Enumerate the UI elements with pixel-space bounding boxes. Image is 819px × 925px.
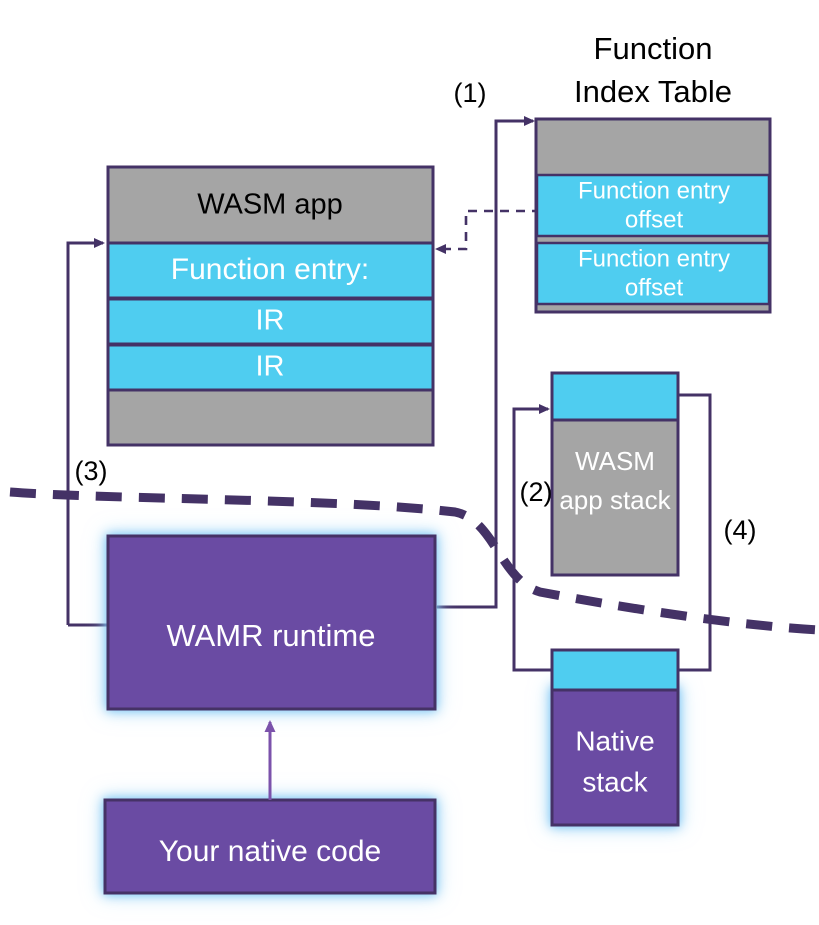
connector-step1 <box>423 121 533 614</box>
step-label-2: (2) <box>520 477 553 507</box>
wamr-architecture-diagram: Function Index Table <box>0 0 819 925</box>
wasm-app-label: WASM app <box>197 189 343 221</box>
wasm-app-row-ir-1-label: IR <box>256 305 285 337</box>
function-index-table-entry-2-line1: Function entry <box>578 245 730 272</box>
wasm-app-row-ir-2-label: IR <box>256 351 285 383</box>
native-stack-block[interactable]: Native stack <box>552 650 678 825</box>
wasm-app-row-function-entry-label: Function entry: <box>171 253 369 286</box>
wasm-app-stack-frame[interactable] <box>552 373 678 420</box>
wasm-app-stack-label-line1: WASM <box>575 446 655 476</box>
native-stack-frame[interactable] <box>552 650 678 690</box>
native-stack-label-line1: Native <box>575 725 654 756</box>
wasm-app-block[interactable]: WASM app Function entry: IR IR <box>108 167 433 445</box>
wasm-app-stack-label-line2: app stack <box>559 485 671 515</box>
your-native-code-label: Your native code <box>159 835 381 868</box>
function-index-table-title-line1: Function <box>594 31 713 66</box>
your-native-code-block[interactable]: Your native code <box>105 800 435 893</box>
function-index-table-entry-1-line2: offset <box>625 206 684 233</box>
function-index-table-entry-2-line2: offset <box>625 274 684 301</box>
native-stack-body <box>552 688 678 825</box>
wasm-app-stack-block[interactable]: WASM app stack <box>552 373 678 575</box>
wamr-runtime-label: WAMR runtime <box>167 618 376 653</box>
connector-step3 <box>68 243 110 625</box>
wamr-runtime-block[interactable]: WAMR runtime <box>108 536 435 709</box>
function-index-table-title-line2: Index Table <box>574 74 732 109</box>
function-index-table-entry-1-line1: Function entry <box>578 177 730 204</box>
step-label-1: (1) <box>454 78 487 108</box>
step-label-3: (3) <box>75 456 108 486</box>
function-index-table-block[interactable]: Function entry offset Function entry off… <box>536 119 770 312</box>
step-label-4: (4) <box>724 515 757 545</box>
diagram-canvas: Function Index Table <box>0 0 819 925</box>
native-stack-label-line2: stack <box>582 766 648 797</box>
